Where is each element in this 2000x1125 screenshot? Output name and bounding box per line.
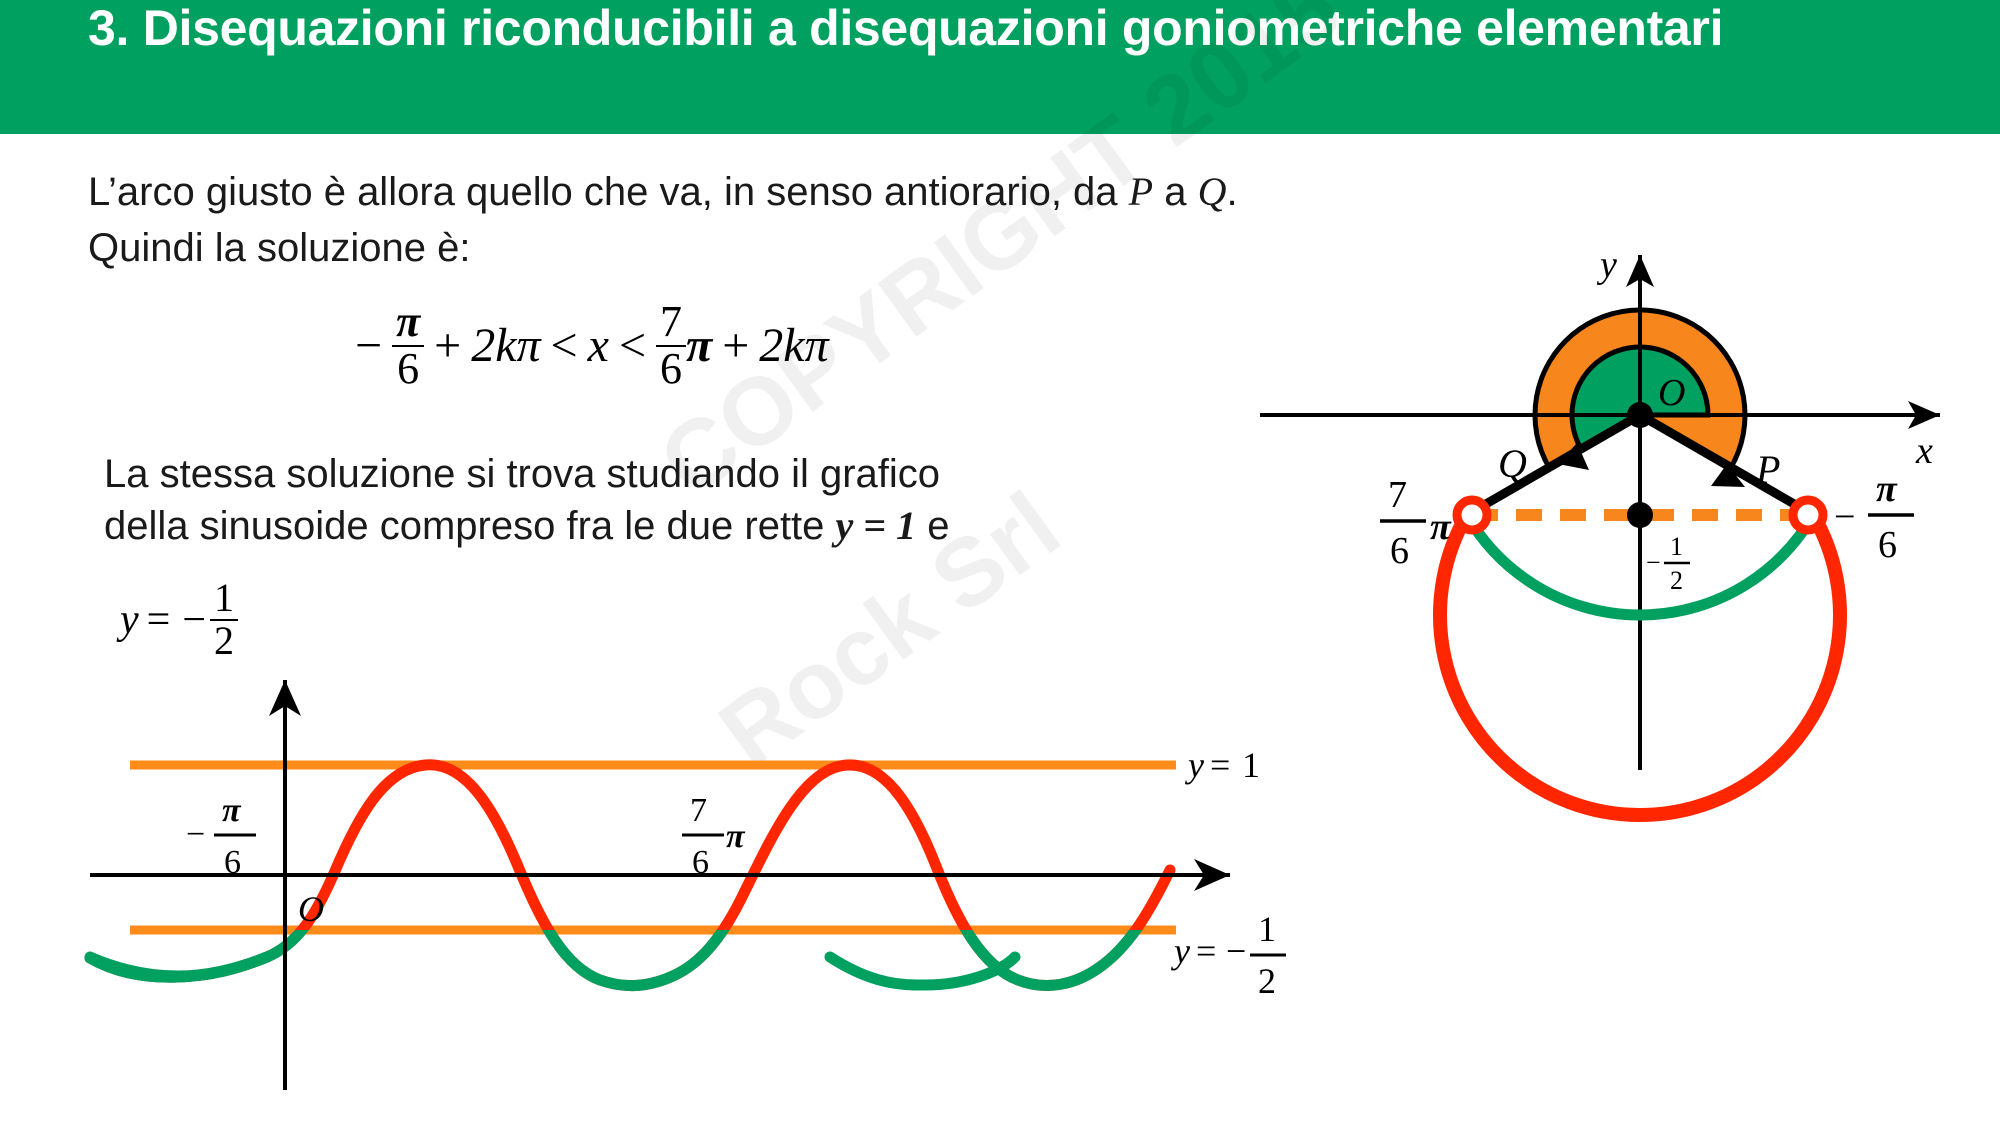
formula-frac2-denominator: 6 — [656, 345, 686, 392]
angle-q-numerator: 7 — [1388, 474, 1407, 516]
sinusoid-chart-figure: O − π 6 7 6 π y = 1 y — [130, 645, 1310, 1115]
ylabel-left-y: y — [120, 596, 139, 644]
page-title: 3. Disequazioni riconducibili a disequaz… — [88, 0, 1948, 59]
sine-tick-label-minus-pi-over-6: − π 6 — [186, 792, 256, 881]
point-q-label: Q — [1498, 441, 1527, 486]
paragraph-intro-text: L’arco giusto è allora quello che va, in… — [88, 170, 1118, 214]
formula-term-2kpi-1: 2kπ — [471, 318, 540, 373]
angle-p-minus-sign: − — [1834, 496, 1855, 538]
point-q-marker — [1457, 500, 1487, 530]
point-p-label: P — [1755, 447, 1780, 492]
paragraph-sinusoid-line2: della sinusoide compreso fra le due rett… — [104, 500, 949, 552]
sine-tick-left-denominator: 6 — [224, 844, 241, 881]
sine-legend2-y: y — [1171, 931, 1190, 971]
threshold-dot — [1627, 502, 1653, 528]
sine-legend1-y: y — [1185, 745, 1204, 785]
formula-pi-symbol-2: π — [686, 318, 712, 373]
threshold-denominator: 2 — [1670, 566, 1683, 595]
angle-q-pi-symbol: π — [1430, 506, 1452, 548]
sine-legend2-equals: = — [1196, 931, 1216, 971]
solution-inequality-formula: − π 6 + 2kπ < x < 7 6 π + 2kπ — [345, 300, 829, 392]
angle-label-minus-pi-over-6: − π 6 — [1834, 468, 1914, 566]
angle-q-denominator: 6 — [1390, 530, 1409, 572]
formula-frac1-denominator: 6 — [392, 345, 424, 392]
sine-legend2-minus: − — [1226, 931, 1246, 971]
slide-root: 3. Disequazioni riconducibili a disequaz… — [0, 0, 2000, 1125]
formula-term-2kpi-2: 2kπ — [759, 318, 828, 373]
formula-plus-sign-1: + — [424, 318, 471, 373]
threshold-numerator: 1 — [1670, 532, 1683, 561]
line-equation-y-equals-1: y = 1 — [836, 503, 917, 548]
sine-tick-left-numerator: π — [222, 792, 242, 829]
formula-less-than-2: < — [609, 318, 656, 373]
sine-tick-right-pi: π — [726, 818, 746, 855]
origin-label: O — [1658, 372, 1685, 414]
point-q-inline: Q — [1198, 169, 1227, 214]
paragraph-sinusoid-text: della sinusoide compreso fra le due rett… — [104, 504, 824, 548]
paragraph-sinusoid-line1: La stessa soluzione si trova studiando i… — [104, 448, 940, 500]
point-p-marker — [1793, 500, 1823, 530]
formula-plus-sign-2: + — [712, 318, 759, 373]
slide-header-band: 3. Disequazioni riconducibili a disequaz… — [0, 0, 2000, 134]
sine-legend2-denominator: 2 — [1258, 961, 1276, 1001]
sine-legend-y-equals-1: y = 1 — [1185, 745, 1260, 785]
origin-dot — [1627, 402, 1653, 428]
paragraph-intro-line1: L’arco giusto è allora quello che va, in… — [88, 166, 1238, 218]
sine-legend1-equals: = — [1210, 745, 1230, 785]
threshold-minus-sign: − — [1646, 548, 1661, 577]
formula-minus-sign: − — [345, 318, 392, 373]
unit-circle-figure: y x O P Q − π 6 7 6 π − 1 — [1240, 215, 2000, 785]
formula-fraction-7-over-6: 7 6 — [656, 300, 686, 392]
y-axis-label: y — [1596, 244, 1617, 286]
paragraph-solution-intro: Quindi la soluzione è: — [88, 222, 470, 274]
sine-origin-label: O — [298, 889, 324, 929]
sine-legend2-numerator: 1 — [1258, 909, 1276, 949]
paragraph-intro-mid: a — [1164, 170, 1186, 214]
formula-frac2-numerator: 7 — [656, 300, 686, 345]
sine-legend1-value: 1 — [1242, 745, 1260, 785]
ylabel-left-equals: = — [139, 596, 179, 644]
formula-fraction-pi-over-6: π 6 — [392, 300, 424, 392]
angle-p-denominator: 6 — [1878, 524, 1897, 566]
formula-frac1-numerator: π — [392, 300, 424, 345]
sine-tick-right-denominator: 6 — [692, 844, 709, 881]
ylabel-left-minus: − — [178, 596, 210, 644]
sine-tick-right-numerator: 7 — [690, 792, 707, 829]
threshold-value-label: − 1 2 — [1646, 532, 1690, 595]
sine-legend-y-equals-minus-half: y = − 1 2 — [1171, 909, 1286, 1001]
formula-variable-x: x — [588, 318, 609, 373]
paragraph-intro-end: . — [1226, 170, 1237, 214]
formula-less-than-1: < — [541, 318, 588, 373]
paragraph-sinusoid-conjunction: e — [927, 504, 949, 548]
x-axis-label: x — [1915, 430, 1933, 472]
sine-tick-left-sign: − — [186, 816, 205, 853]
angle-p-numerator: π — [1876, 468, 1898, 510]
sine-tick-label-7-pi-over-6: 7 6 π — [682, 792, 746, 881]
ylabel-left-numerator: 1 — [210, 578, 238, 619]
point-p-inline: P — [1129, 169, 1153, 214]
